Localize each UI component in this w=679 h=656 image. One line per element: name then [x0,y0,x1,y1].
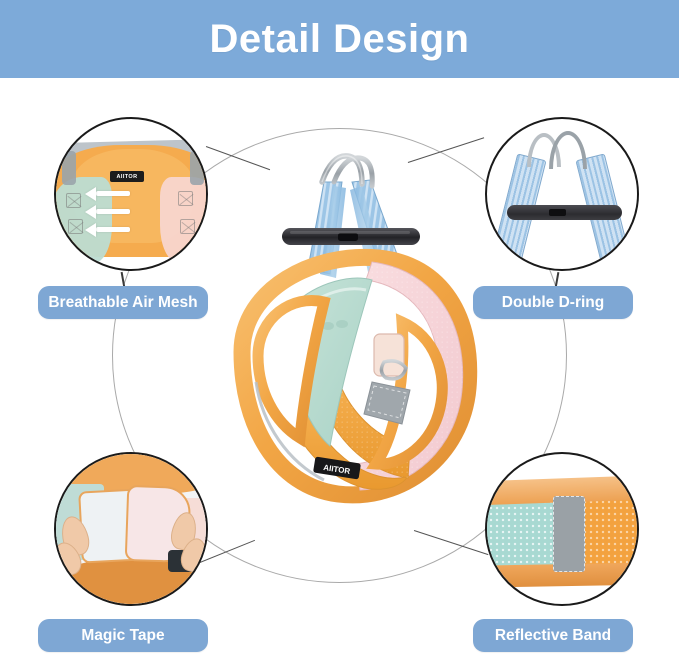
reflective-band-artwork [487,454,637,604]
feature-image-reflective-band[interactable] [485,452,639,606]
product-image-harness[interactable]: AIITOR [196,146,486,521]
mesh-square-icon [178,191,193,206]
magic-tape-artwork [56,454,206,604]
reflective-strip [364,382,410,424]
mesh-panel-mint [485,500,559,566]
feature-label-magic-tape[interactable]: Magic Tape [38,619,208,652]
infographic-page: Detail Design [0,0,679,656]
mesh-square-icon [68,219,83,234]
harness-svg: AIITOR [196,146,486,521]
feature-image-magic-tape[interactable] [54,452,208,606]
mesh-square-icon [180,219,195,234]
feature-image-breathable-air-mesh[interactable]: AIITOR [54,117,208,271]
harness-panel-mint [54,177,112,263]
page-title: Detail Design [210,17,470,62]
feature-label-reflective-band[interactable]: Reflective Band [473,619,633,652]
feature-label-breathable-air-mesh[interactable]: Breathable Air Mesh [38,286,208,319]
slider-slot [549,209,566,216]
leash-d-ring [374,334,406,379]
feature-label-text: Magic Tape [81,627,164,645]
harness-tab-left [62,151,76,185]
strap-slider [507,205,622,220]
feature-image-double-d-ring[interactable] [485,117,639,271]
d-ring-artwork [487,119,637,269]
reflective-strip [553,496,585,572]
air-mesh-artwork: AIITOR [56,119,206,269]
feature-label-text: Double D-ring [502,294,604,312]
brand-tag: AIITOR [313,457,361,480]
feature-label-text: Reflective Band [495,627,611,645]
feature-label-double-d-ring[interactable]: Double D-ring [473,286,633,319]
d-ring-icon [322,156,372,186]
mesh-square-icon [66,193,81,208]
header-banner: Detail Design [0,0,679,78]
brand-tag: AIITOR [110,171,144,182]
mesh-panel-orange [583,500,639,566]
strap-slider [282,228,420,245]
harness-body [242,257,469,495]
d-ring-icon [549,131,587,169]
feature-label-text: Breathable Air Mesh [48,294,197,312]
connector-line-bottom-right [414,530,489,555]
